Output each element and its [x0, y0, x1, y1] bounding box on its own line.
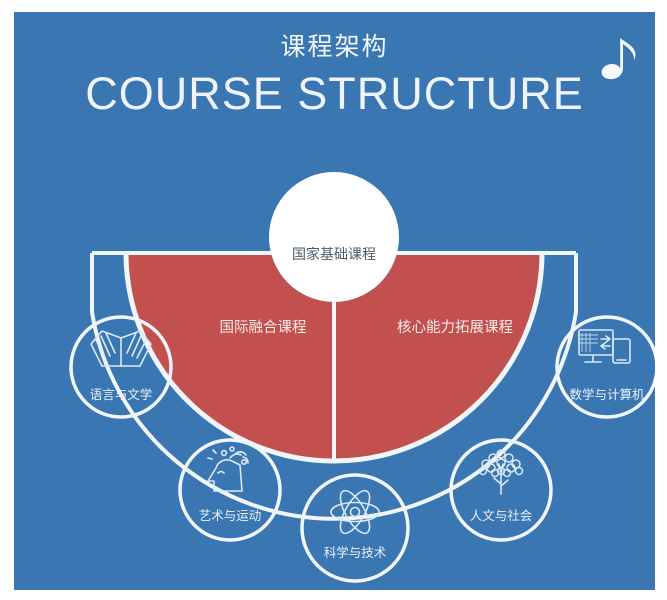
node-circle: [557, 317, 655, 417]
course-structure-poster: 课程架构 COURSE STRUCTURE: [14, 12, 655, 590]
computer-devices-icon: [579, 330, 630, 363]
sector-label-left: 国际融合课程: [220, 319, 307, 336]
hub-node[interactable]: 国家基础课程: [269, 172, 399, 302]
node-circle: [180, 440, 280, 540]
creative-head-icon: [208, 447, 248, 491]
node-circle: [71, 317, 171, 417]
node-math-computer[interactable]: 数学与计算机: [557, 317, 655, 417]
hub-circle: [269, 172, 399, 302]
node-label: 艺术与运动: [199, 509, 262, 523]
structure-diagram: 国家基础课程 国际融合课程 核心能力拓展课程 语言与文学: [14, 12, 655, 590]
node-label: 数学与计算机: [569, 387, 645, 402]
hub-label: 国家基础课程: [292, 246, 376, 262]
node-label: 人文与社会: [470, 508, 533, 523]
node-label: 语言与文学: [90, 387, 153, 402]
atom-icon: [331, 486, 379, 537]
tree-icon: [480, 450, 523, 494]
node-label: 科学与技术: [324, 545, 387, 560]
node-art-sports[interactable]: 艺术与运动: [180, 440, 280, 540]
sector-label-right: 核心能力拓展课程: [397, 319, 513, 336]
node-science-technology[interactable]: 科学与技术: [302, 475, 408, 581]
node-language-literature[interactable]: 语言与文学: [71, 317, 171, 417]
